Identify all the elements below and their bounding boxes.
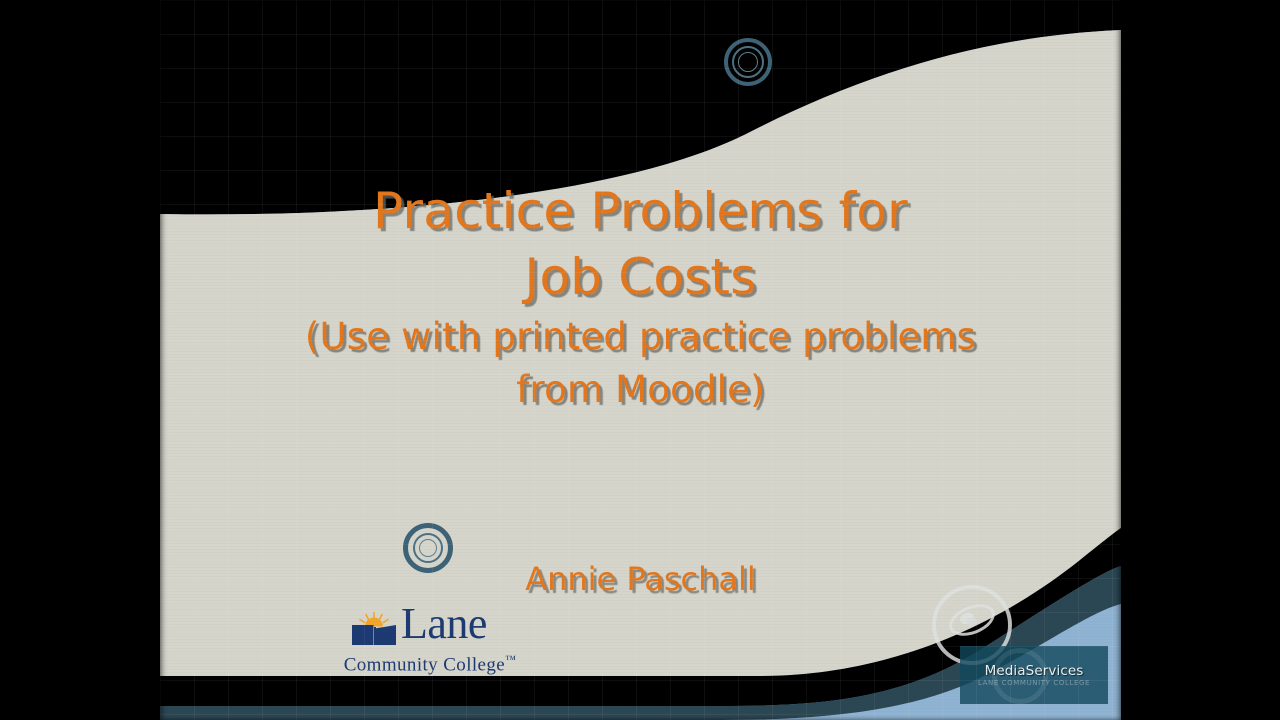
media-services-label: MediaServices bbox=[960, 663, 1108, 679]
ring-lower-left-core-icon bbox=[419, 539, 437, 557]
slide-subtitle-line-2: from Moodle) bbox=[160, 363, 1121, 416]
ring-top-center-core-icon bbox=[738, 52, 758, 72]
video-frame: Practice Problems for Job Costs (Use wit… bbox=[0, 0, 1280, 720]
slide-title-line-2: Job Costs bbox=[160, 244, 1121, 310]
slide-title-block: Practice Problems for Job Costs (Use wit… bbox=[160, 178, 1121, 416]
logo-subtitle: Community College™ bbox=[337, 649, 523, 676]
media-services-watermark: MediaServices LANE COMMUNITY COLLEGE bbox=[960, 646, 1108, 704]
presenter-name: Annie Paschall bbox=[160, 557, 1121, 601]
logo-subtitle-text: Community College bbox=[344, 654, 505, 675]
presentation-slide: Practice Problems for Job Costs (Use wit… bbox=[160, 0, 1121, 720]
media-services-sublabel: LANE COMMUNITY COLLEGE bbox=[960, 679, 1108, 688]
logo-trademark: ™ bbox=[505, 654, 516, 666]
letterbox-bar-right bbox=[1121, 0, 1280, 720]
lane-community-college-logo: Lane Community College™ bbox=[337, 608, 537, 678]
open-book-sunrise-icon bbox=[352, 612, 408, 646]
swoosh-nub2-icon bbox=[966, 617, 977, 626]
slide-title-line-1: Practice Problems for bbox=[160, 178, 1121, 244]
letterbox-bar-left bbox=[0, 0, 160, 720]
logo-wordmark: Lane bbox=[401, 600, 487, 648]
slide-subtitle-line-1: (Use with printed practice problems bbox=[160, 310, 1121, 363]
